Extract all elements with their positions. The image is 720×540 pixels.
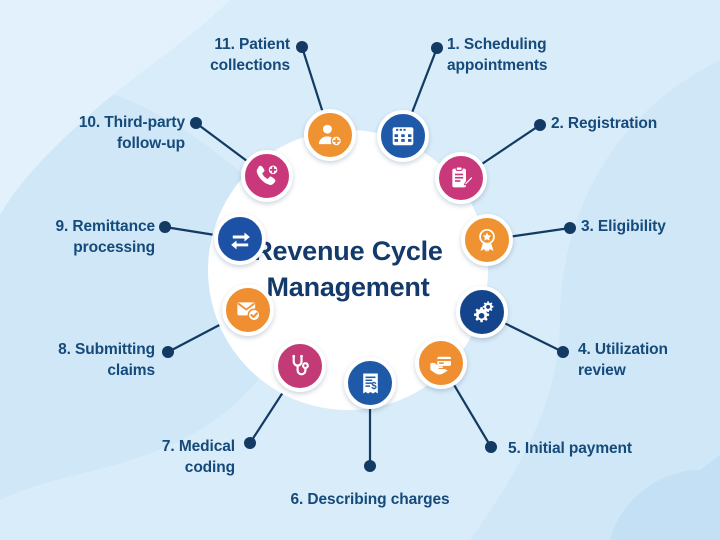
label-medical-coding: 7. Medical coding <box>60 437 235 478</box>
hand-card-icon <box>428 350 454 376</box>
node-describing-charges[interactable]: $ <box>344 357 396 409</box>
svg-text:$: $ <box>371 381 377 392</box>
gears-icon <box>469 299 496 326</box>
person-add-icon <box>317 122 343 148</box>
label-registration: 2. Registration <box>551 114 716 135</box>
stethoscope-icon <box>287 353 313 379</box>
node-third-party-follow-up[interactable] <box>241 150 293 202</box>
label-describing-charges: 6. Describing charges <box>250 490 490 511</box>
label-remittance-processing: 9. Remittance processing <box>10 217 155 258</box>
node-patient-collections[interactable] <box>304 109 356 161</box>
envelope-check-icon <box>235 297 261 323</box>
label-scheduling-appointments: 1. Scheduling appointments <box>447 35 617 76</box>
award-badge-icon <box>474 227 500 253</box>
label-eligibility: 3. Eligibility <box>581 217 720 238</box>
calendar-icon <box>390 123 416 149</box>
clipboard-pencil-icon <box>448 165 474 191</box>
node-scheduling-appointments[interactable] <box>377 110 429 162</box>
node-submitting-claims[interactable] <box>222 284 274 336</box>
label-patient-collections: 11. Patient collections <box>35 35 290 76</box>
label-initial-payment: 5. Initial payment <box>508 439 708 460</box>
label-third-party-follow-up: 10. Third-party follow-up <box>20 113 185 154</box>
invoice-dollar-icon: $ <box>358 371 383 396</box>
node-medical-coding[interactable] <box>274 340 326 392</box>
label-utilization-review: 4. Utilization review <box>578 340 720 381</box>
label-submitting-claims: 8. Submitting claims <box>10 340 155 381</box>
diagram-canvas: Revenue Cycle Management 1. Scheduling a… <box>0 0 720 540</box>
node-initial-payment[interactable] <box>415 337 467 389</box>
exchange-arrows-icon <box>228 227 253 252</box>
node-remittance-processing[interactable] <box>214 213 266 265</box>
phone-plus-icon <box>254 163 280 189</box>
node-registration[interactable] <box>435 152 487 204</box>
node-utilization-review[interactable] <box>456 286 508 338</box>
node-eligibility[interactable] <box>461 214 513 266</box>
